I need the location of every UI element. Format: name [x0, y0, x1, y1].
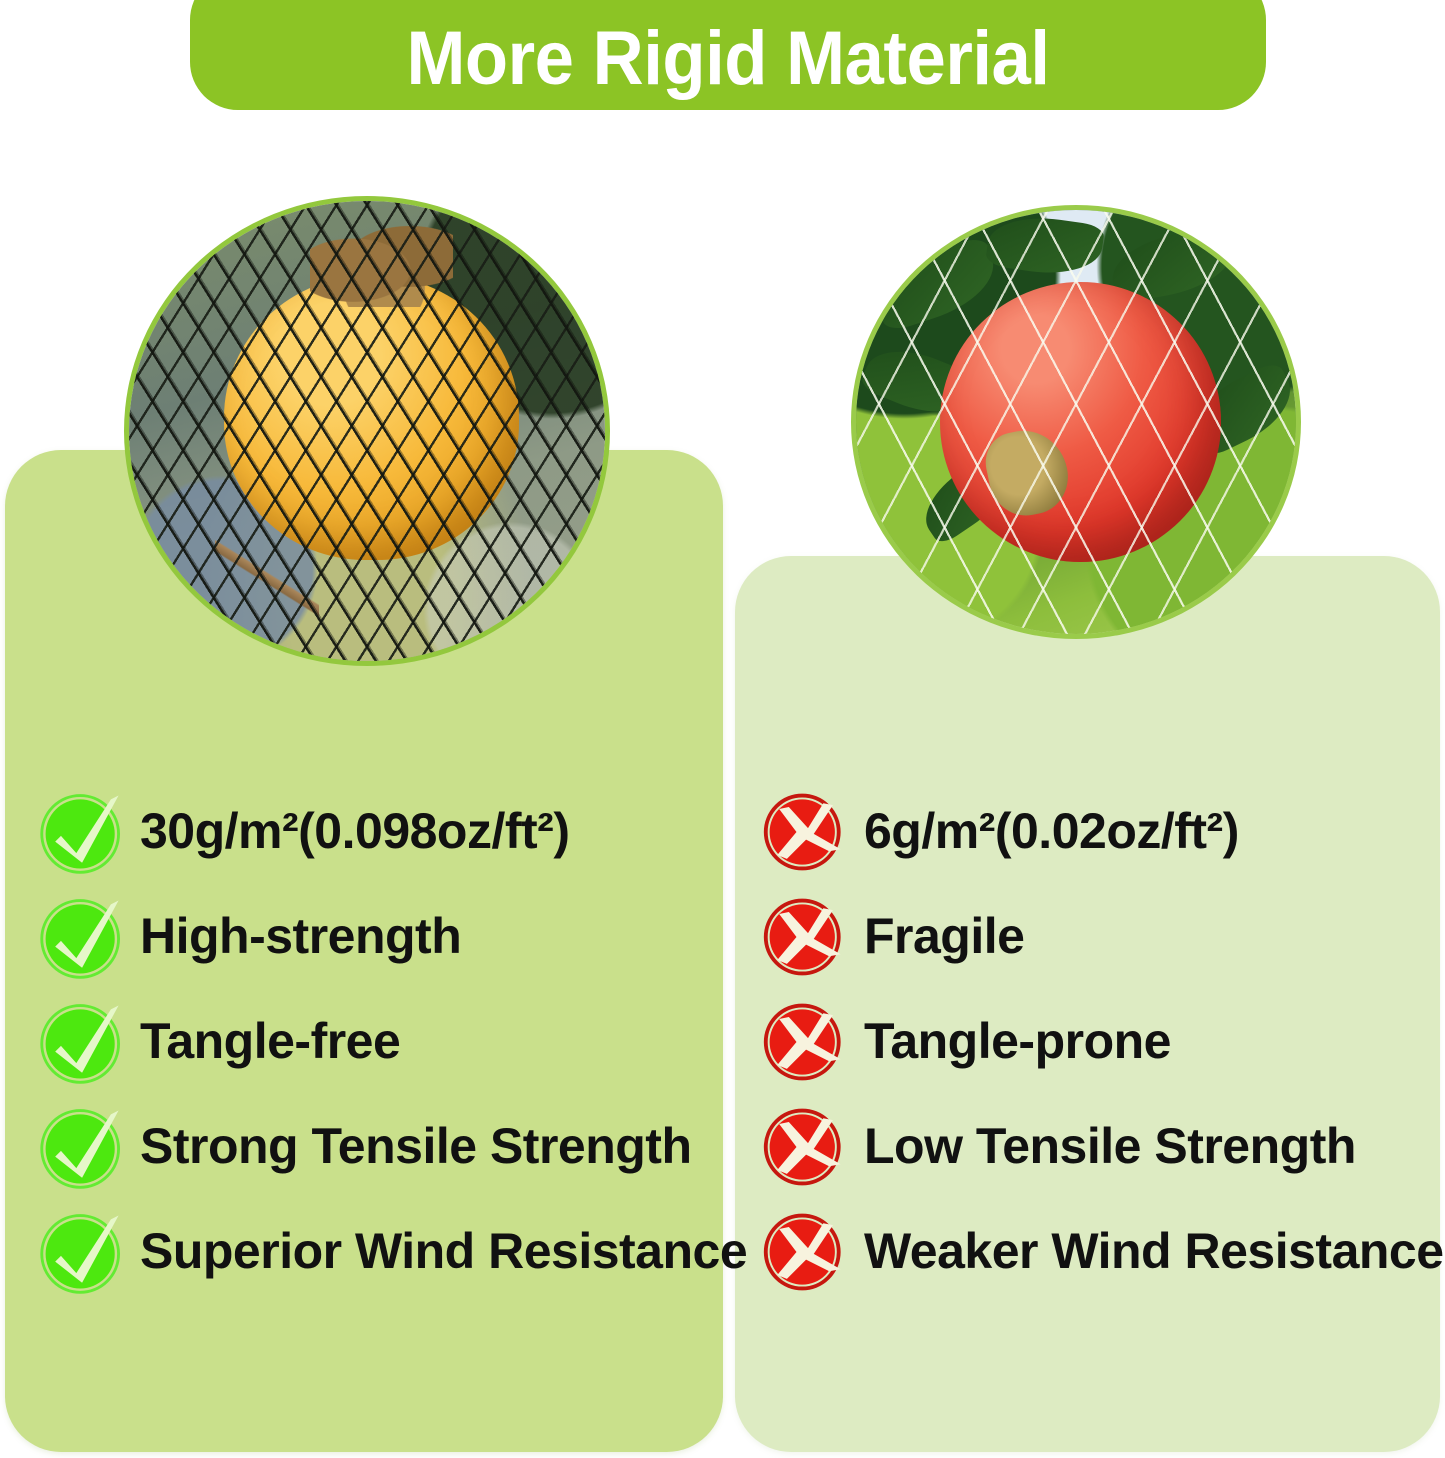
green-check-circle-icon [40, 1002, 118, 1080]
bad-product-feature-list: 6g/m²(0.02oz/ft²) Fragile Tangle-prone [764, 778, 1424, 1303]
title-banner: More Rigid Material [190, 0, 1266, 110]
list-item-label: Superior Wind Resistance [140, 1224, 747, 1278]
list-item-label: Fragile [864, 909, 1024, 963]
green-check-circle-icon [40, 897, 118, 975]
list-item: Tangle-prone [764, 988, 1424, 1093]
list-item-label: 30g/m²(0.098oz/ft²) [140, 804, 569, 858]
list-item: Superior Wind Resistance [40, 1198, 710, 1303]
list-item-label: 6g/m²(0.02oz/ft²) [864, 804, 1239, 858]
pomegranate-behind-loose-white-net-photo [851, 205, 1301, 639]
red-x-circle-icon [764, 1002, 842, 1080]
list-item: Strong Tensile Strength [40, 1093, 710, 1198]
list-item: Weaker Wind Resistance [764, 1198, 1424, 1303]
red-x-circle-icon [764, 1212, 842, 1290]
page-title: More Rigid Material [228, 16, 1229, 102]
loose-net-overlay [851, 205, 1301, 639]
net-texture-overlay [124, 196, 610, 666]
list-item: 6g/m²(0.02oz/ft²) [764, 778, 1424, 883]
green-check-circle-icon [40, 1107, 118, 1185]
list-item: Tangle-free [40, 988, 710, 1093]
green-check-circle-icon [40, 1212, 118, 1290]
list-item-label: Low Tensile Strength [864, 1119, 1356, 1173]
list-item: High-strength [40, 883, 710, 988]
red-x-circle-icon [764, 897, 842, 975]
list-item-label: Strong Tensile Strength [140, 1119, 692, 1173]
list-item-label: High-strength [140, 909, 461, 963]
good-product-feature-list: 30g/m²(0.098oz/ft²) High-strength Tangle… [40, 778, 710, 1303]
pomegranate-behind-dense-dark-net-photo [124, 196, 610, 666]
list-item: Fragile [764, 883, 1424, 988]
list-item-label: Tangle-free [140, 1014, 400, 1068]
red-x-circle-icon [764, 1107, 842, 1185]
green-check-circle-icon [40, 792, 118, 870]
red-x-circle-icon [764, 792, 842, 870]
list-item-label: Weaker Wind Resistance [864, 1224, 1444, 1278]
list-item-label: Tangle-prone [864, 1014, 1171, 1068]
list-item: Low Tensile Strength [764, 1093, 1424, 1198]
list-item: 30g/m²(0.098oz/ft²) [40, 778, 710, 883]
